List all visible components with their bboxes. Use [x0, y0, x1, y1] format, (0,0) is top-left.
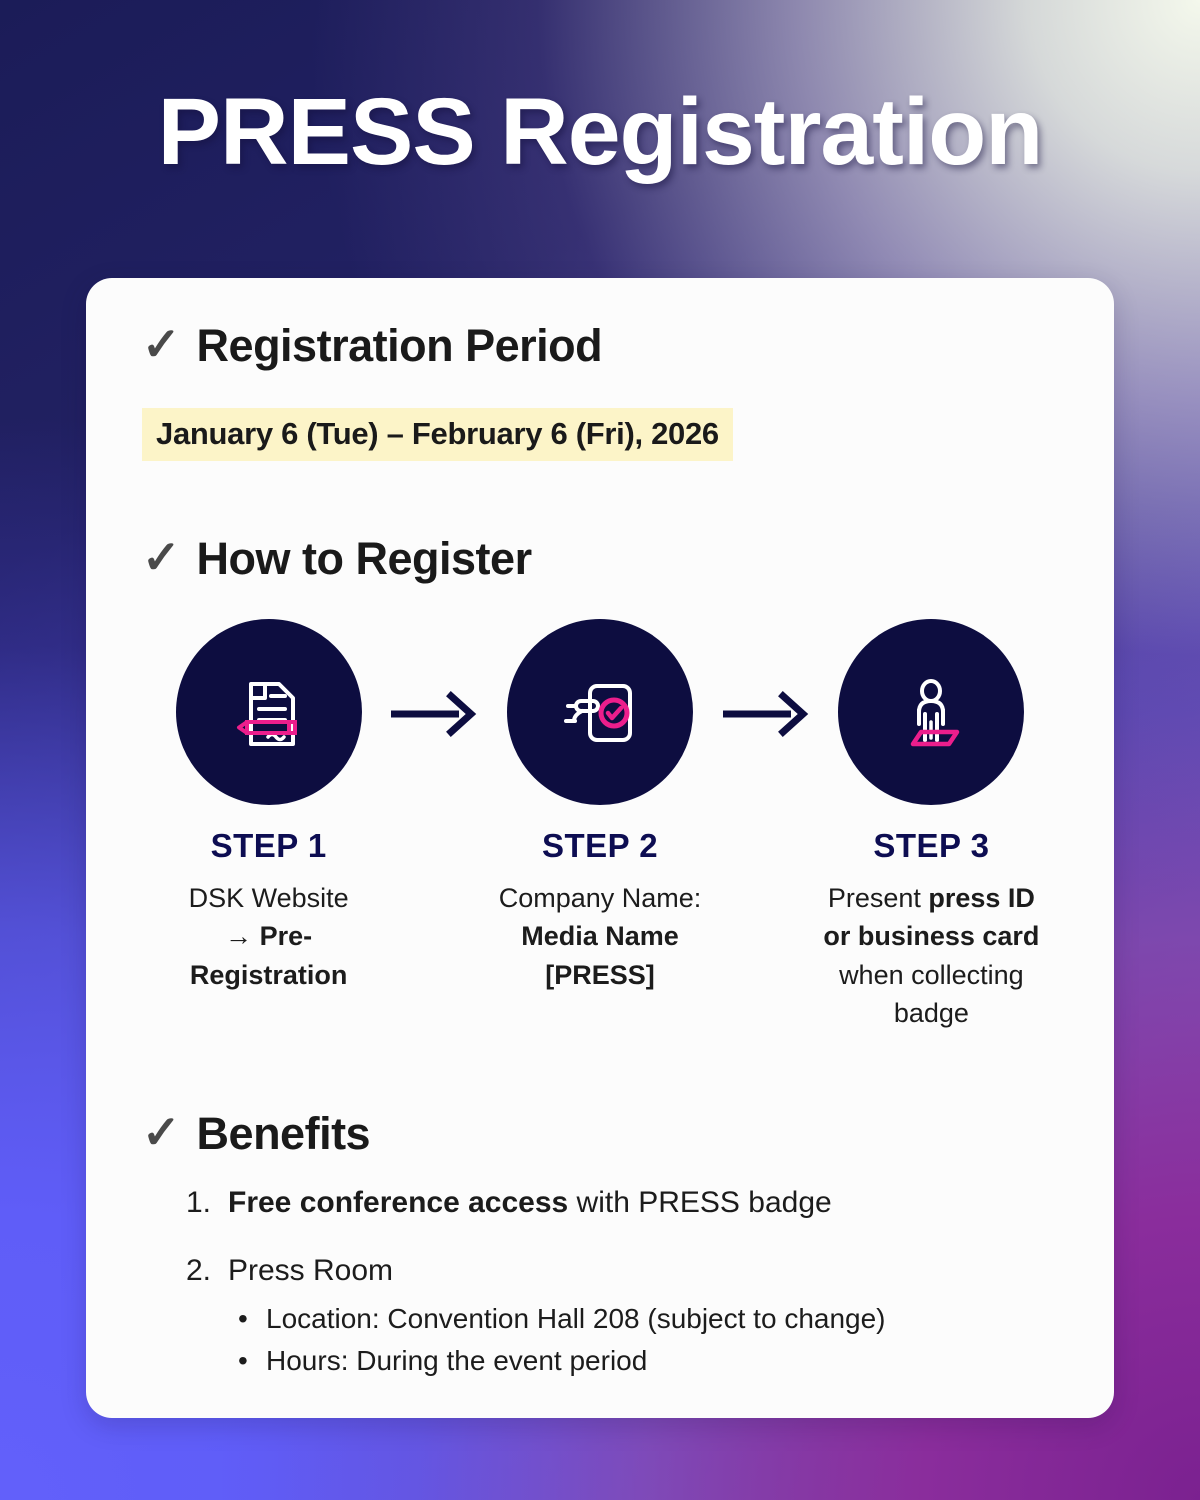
- benefit-1-rest: with PRESS badge: [568, 1186, 831, 1219]
- step-1: STEP 1 DSK Website → Pre-Registration: [148, 619, 389, 994]
- step-3-line3: when collecting badge: [839, 960, 1024, 1028]
- step-3-description: Present press ID or business card when c…: [811, 879, 1052, 1032]
- step-1-description: DSK Website → Pre-Registration: [148, 879, 389, 994]
- section-registration-period-header: ✓ Registration Period: [142, 320, 1058, 372]
- steps-row: STEP 1 DSK Website → Pre-Registration: [142, 619, 1058, 1032]
- step-2-line2-bold: Media Name [PRESS]: [521, 921, 679, 989]
- benefit-2-number: 2.: [186, 1254, 228, 1288]
- step-1-arrow-prefix: →: [225, 921, 260, 951]
- arrow-right-icon: [389, 691, 479, 737]
- list-item: • Hours: During the event period: [238, 1340, 1058, 1382]
- step-3-line1-plain: Present: [828, 883, 929, 913]
- step-3-icon-circle: [838, 619, 1024, 805]
- check-icon: ✓: [142, 321, 181, 367]
- arrow-right-icon: [721, 691, 811, 737]
- benefit-item-1: 1. Free conference access with PRESS bad…: [186, 1186, 1058, 1220]
- document-pencil-icon: [221, 664, 317, 760]
- content-card: ✓ Registration Period January 6 (Tue) – …: [86, 278, 1114, 1418]
- step-2: STEP 2 Company Name: Media Name [PRESS]: [479, 619, 720, 994]
- form-check-icon: [552, 664, 648, 760]
- person-stand-icon: [883, 664, 979, 760]
- step-3: STEP 3 Present press ID or business card…: [811, 619, 1052, 1032]
- step-3-line2-bold: or business card: [823, 921, 1039, 951]
- arrow-1-wrap: [389, 619, 479, 737]
- list-item: • Location: Convention Hall 208 (subject…: [238, 1298, 1058, 1340]
- section-title-registration-period: Registration Period: [197, 320, 603, 372]
- press-room-hours: Hours: During the event period: [266, 1340, 647, 1382]
- step-1-label: STEP 1: [211, 827, 327, 865]
- benefit-1-number: 1.: [186, 1186, 228, 1220]
- step-3-line1-bold: press ID: [928, 883, 1035, 913]
- benefit-1-bold: Free conference access: [228, 1186, 568, 1219]
- section-title-benefits: Benefits: [197, 1108, 371, 1160]
- step-1-line1: DSK Website: [189, 883, 349, 913]
- section-title-how-to-register: How to Register: [197, 533, 532, 585]
- press-room-location: Location: Convention Hall 208 (subject t…: [266, 1298, 886, 1340]
- benefit-item-2: 2. Press Room: [186, 1254, 1058, 1288]
- bullet-icon: •: [238, 1340, 266, 1382]
- check-icon: ✓: [142, 534, 181, 580]
- step-1-line2-bold: Pre-Registration: [190, 921, 348, 989]
- arrow-2-wrap: [721, 619, 811, 737]
- section-how-to-register-header: ✓ How to Register: [142, 533, 1058, 585]
- poster-root: PRESS Registration ✓ Registration Period…: [0, 0, 1200, 1500]
- page-title: PRESS Registration: [0, 78, 1200, 187]
- check-icon: ✓: [142, 1109, 181, 1155]
- benefit-2-text: Press Room: [228, 1254, 393, 1288]
- benefits-list: 1. Free conference access with PRESS bad…: [142, 1186, 1058, 1382]
- step-3-label: STEP 3: [873, 827, 989, 865]
- step-2-description: Company Name: Media Name [PRESS]: [479, 879, 720, 994]
- section-benefits-header: ✓ Benefits: [142, 1108, 1058, 1160]
- press-room-sub-list: • Location: Convention Hall 208 (subject…: [186, 1298, 1058, 1382]
- step-2-line1: Company Name:: [499, 883, 702, 913]
- step-2-icon-circle: [507, 619, 693, 805]
- benefit-1-text: Free conference access with PRESS badge: [228, 1186, 832, 1220]
- step-1-icon-circle: [176, 619, 362, 805]
- step-2-label: STEP 2: [542, 827, 658, 865]
- registration-date-range: January 6 (Tue) – February 6 (Fri), 2026: [142, 408, 733, 461]
- bullet-icon: •: [238, 1298, 266, 1340]
